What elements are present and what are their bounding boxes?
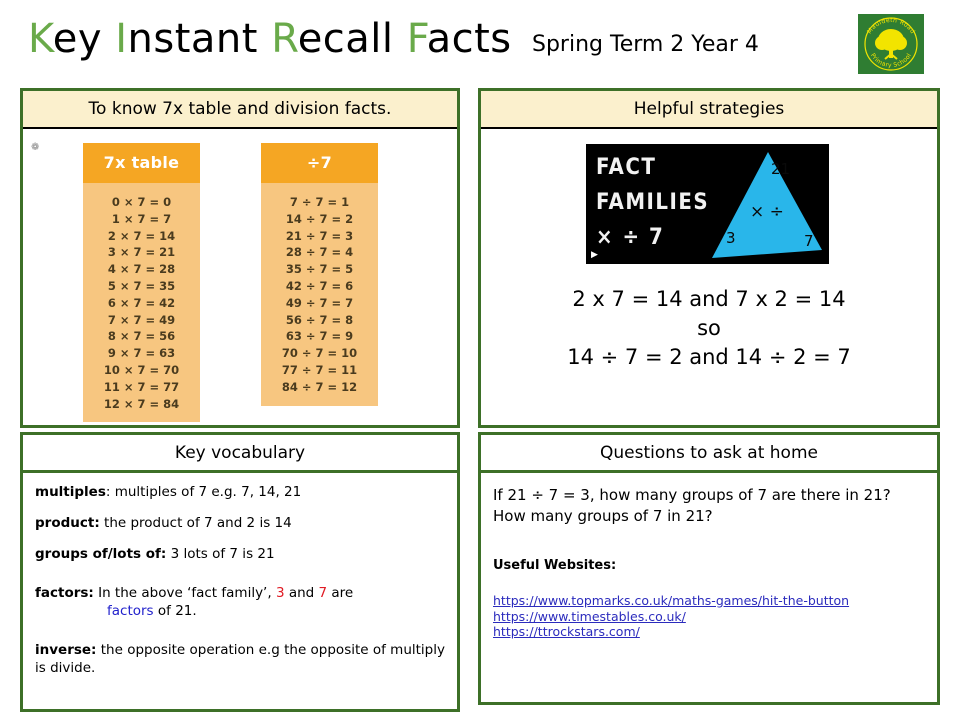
- vocab-term: product:: [35, 515, 100, 531]
- vocab-def: 3 lots of 7 is 21: [166, 546, 274, 562]
- fact-families-line-2: FAMILIES: [596, 185, 709, 220]
- triangle-left-label: 3: [726, 229, 736, 247]
- school-crest-icon: Mauldeth Road Primary School: [858, 14, 924, 74]
- vocab-def: the product of 7 and 2 is 14: [100, 515, 292, 531]
- fact-families-line-1: FACT: [596, 150, 709, 185]
- title-part-6: F: [407, 16, 427, 62]
- times-table-card: 7x table 0 × 7 = 0 1 × 7 = 7 2 × 7 = 14 …: [83, 143, 200, 422]
- triangle-center-label: × ÷: [750, 202, 784, 222]
- vocab-entry-multiples: multiples: multiples of 7 e.g. 7, 14, 21: [35, 483, 445, 501]
- times-table-row: 2 × 7 = 14: [83, 228, 200, 245]
- website-link[interactable]: https://ttrockstars.com/: [493, 624, 925, 640]
- title-part-1: ey: [53, 16, 116, 62]
- fact-family-equations: 2 x 7 = 14 and 7 x 2 = 14 so 14 ÷ 7 = 2 …: [481, 285, 937, 372]
- panel-strategies-body: FACT FAMILIES × ÷ 7 ▶ 21 3 7 × ÷ 2 x 7 =…: [481, 129, 937, 427]
- title-part-3: nstant: [128, 16, 272, 62]
- useful-websites-label: Useful Websites:: [493, 555, 925, 576]
- panel-questions-body: If 21 ÷ 7 = 3, how many groups of 7 are …: [481, 473, 937, 640]
- cursor-artifact: ❁: [31, 143, 38, 153]
- times-table-row: 6 × 7 = 42: [83, 295, 200, 312]
- equation-line-2: so: [481, 314, 937, 343]
- times-table-rows: 0 × 7 = 0 1 × 7 = 7 2 × 7 = 14 3 × 7 = 2…: [83, 183, 200, 422]
- title-part-0: K: [28, 16, 53, 62]
- times-table-title: 7x table: [83, 143, 200, 183]
- play-icon[interactable]: ▶: [591, 250, 598, 260]
- vocab-factor-b: 7: [319, 585, 328, 601]
- times-table-row: 1 × 7 = 7: [83, 211, 200, 228]
- panel-questions-at-home: Questions to ask at home If 21 ÷ 7 = 3, …: [478, 432, 940, 705]
- division-table-row: 56 ÷ 7 = 8: [261, 312, 378, 329]
- vocab-factors-second-line: factors of 21.: [107, 602, 445, 620]
- panel-vocabulary-body: multiples: multiples of 7 e.g. 7, 14, 21…: [23, 473, 457, 677]
- vocab-entry-product: product: the product of 7 and 2 is 14: [35, 514, 445, 532]
- division-table-row: 7 ÷ 7 = 1: [261, 194, 378, 211]
- panel-key-vocabulary: Key vocabulary multiples: multiples of 7…: [20, 432, 460, 712]
- question-text: If 21 ÷ 7 = 3, how many groups of 7 are …: [493, 485, 925, 527]
- panel-vocabulary-header: Key vocabulary: [23, 435, 457, 473]
- vocab-factors-word: factors: [107, 603, 154, 619]
- vocab-term: groups of/lots of:: [35, 546, 166, 562]
- vocab-entry-factors: factors: In the above ‘fact family’, 3 a…: [35, 584, 445, 620]
- vocab-term: factors:: [35, 585, 94, 601]
- division-table-row: 84 ÷ 7 = 12: [261, 379, 378, 396]
- panel-times-tables: To know 7x table and division facts. ❁ 7…: [20, 88, 460, 428]
- title-part-2: I: [115, 16, 127, 62]
- equation-line-1: 2 x 7 = 14 and 7 x 2 = 14: [481, 285, 937, 314]
- times-table-row: 5 × 7 = 35: [83, 278, 200, 295]
- fact-families-thumbnail[interactable]: FACT FAMILIES × ÷ 7 ▶ 21 3 7 × ÷: [586, 144, 829, 264]
- triangle-top-label: 21: [771, 160, 790, 178]
- times-table-row: 9 × 7 = 63: [83, 345, 200, 362]
- times-table-row: 4 × 7 = 28: [83, 261, 200, 278]
- page-header: Key Instant Recall Facts Spring Term 2 Y…: [0, 0, 960, 84]
- triangle-right-label: 7: [804, 232, 814, 250]
- division-table-row: 14 ÷ 7 = 2: [261, 211, 378, 228]
- panel-tables-body: ❁ 7x table 0 × 7 = 0 1 × 7 = 7 2 × 7 = 1…: [23, 129, 457, 427]
- division-table-row: 77 ÷ 7 = 11: [261, 362, 378, 379]
- times-table-row: 10 × 7 = 70: [83, 362, 200, 379]
- school-logo: Mauldeth Road Primary School: [858, 14, 924, 74]
- times-table-row: 7 × 7 = 49: [83, 312, 200, 329]
- panel-helpful-strategies: Helpful strategies FACT FAMILIES × ÷ 7 ▶…: [478, 88, 940, 428]
- division-table-row: 21 ÷ 7 = 3: [261, 228, 378, 245]
- division-table-row: 70 ÷ 7 = 10: [261, 345, 378, 362]
- times-table-row: 12 × 7 = 84: [83, 396, 200, 413]
- page-subtitle: Spring Term 2 Year 4: [532, 32, 759, 57]
- division-table-title: ÷7: [261, 143, 378, 183]
- vocab-spacer: [35, 633, 445, 641]
- division-table-card: ÷7 7 ÷ 7 = 1 14 ÷ 7 = 2 21 ÷ 7 = 3 28 ÷ …: [261, 143, 378, 406]
- times-table-row: 0 × 7 = 0: [83, 194, 200, 211]
- title-part-4: R: [271, 16, 298, 62]
- panel-tables-header: To know 7x table and division facts.: [23, 91, 457, 129]
- vocab-def: multiples of 7 e.g. 7, 14, 21: [110, 484, 301, 500]
- division-table-row: 63 ÷ 7 = 9: [261, 328, 378, 345]
- division-table-row: 28 ÷ 7 = 4: [261, 244, 378, 261]
- fact-family-triangle: 21 3 7 × ÷: [706, 146, 826, 264]
- fact-families-line-3: × ÷ 7: [596, 220, 709, 255]
- times-table-row: 3 × 7 = 21: [83, 244, 200, 261]
- panel-questions-header: Questions to ask at home: [481, 435, 937, 473]
- fact-families-caption: FACT FAMILIES × ÷ 7: [596, 150, 709, 255]
- division-table-row: 35 ÷ 7 = 5: [261, 261, 378, 278]
- vocab-factors-tail: of 21.: [154, 603, 197, 619]
- vocab-def: the opposite operation e.g the opposite …: [35, 642, 445, 676]
- vocab-mid: and: [285, 585, 319, 601]
- vocab-def-pre: In the above ‘fact family’,: [94, 585, 276, 601]
- vocab-post: are: [327, 585, 353, 601]
- division-table-row: 42 ÷ 7 = 6: [261, 278, 378, 295]
- division-table-rows: 7 ÷ 7 = 1 14 ÷ 7 = 2 21 ÷ 7 = 3 28 ÷ 7 =…: [261, 183, 378, 406]
- page-title: Key Instant Recall Facts: [28, 16, 512, 62]
- panel-strategies-header: Helpful strategies: [481, 91, 937, 129]
- times-table-row: 11 × 7 = 77: [83, 379, 200, 396]
- vocab-factor-a: 3: [276, 585, 285, 601]
- division-table-row: 49 ÷ 7 = 7: [261, 295, 378, 312]
- website-link[interactable]: https://www.topmarks.co.uk/maths-games/h…: [493, 593, 925, 609]
- useful-websites-list: https://www.topmarks.co.uk/maths-games/h…: [493, 593, 925, 640]
- title-part-5: ecall: [298, 16, 407, 62]
- website-link[interactable]: https://www.timestables.co.uk/: [493, 609, 925, 625]
- vocab-term: inverse:: [35, 642, 96, 658]
- vocab-spacer: [35, 576, 445, 584]
- title-part-7: acts: [427, 16, 512, 62]
- equation-line-3: 14 ÷ 7 = 2 and 14 ÷ 2 = 7: [481, 343, 937, 372]
- vocab-entry-inverse: inverse: the opposite operation e.g the …: [35, 641, 445, 677]
- vocab-term: multiples: [35, 484, 106, 500]
- times-table-row: 8 × 7 = 56: [83, 328, 200, 345]
- vocab-entry-groups-of: groups of/lots of: 3 lots of 7 is 21: [35, 545, 445, 563]
